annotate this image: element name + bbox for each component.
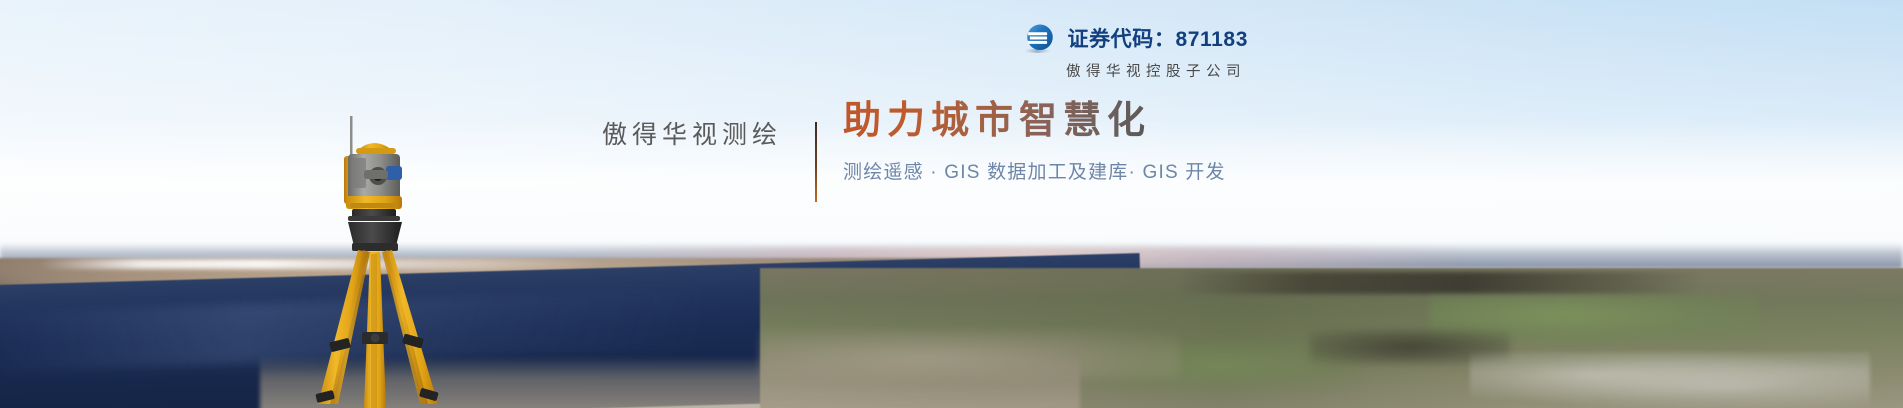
stock-code-badge: 证券代码：871183 傲得华视控股子公司 [1023,22,1248,80]
distant-town [1470,352,1870,408]
vertical-divider [815,122,817,202]
brand-name-left: 傲得华视测绘 [602,118,782,153]
hero-text-block: 助力城市智慧化 测绘遥感 · GIS 数据加工及建库· GIS 开发 [843,98,1226,185]
page-title: 助力城市智慧化 [843,98,1226,146]
hero-subtitle: 测绘遥感 · GIS 数据加工及建库· GIS 开发 [843,161,1226,186]
dark-ridge-band [1180,272,1700,294]
stock-code-row: 证券代码：871183 [1023,22,1248,56]
stock-code-label: 证券代码：871183 [1067,29,1248,50]
circular-e-logo-icon [1023,22,1057,56]
landscape-photo [0,0,1903,408]
hero-banner: 证券代码：871183 傲得华视控股子公司 傲得华视测绘 助力城市智慧化 测绘遥… [0,0,1903,408]
subsidiary-label: 傲得华视控股子公司 [1066,65,1248,80]
total-station-tripod-icon [300,104,560,408]
